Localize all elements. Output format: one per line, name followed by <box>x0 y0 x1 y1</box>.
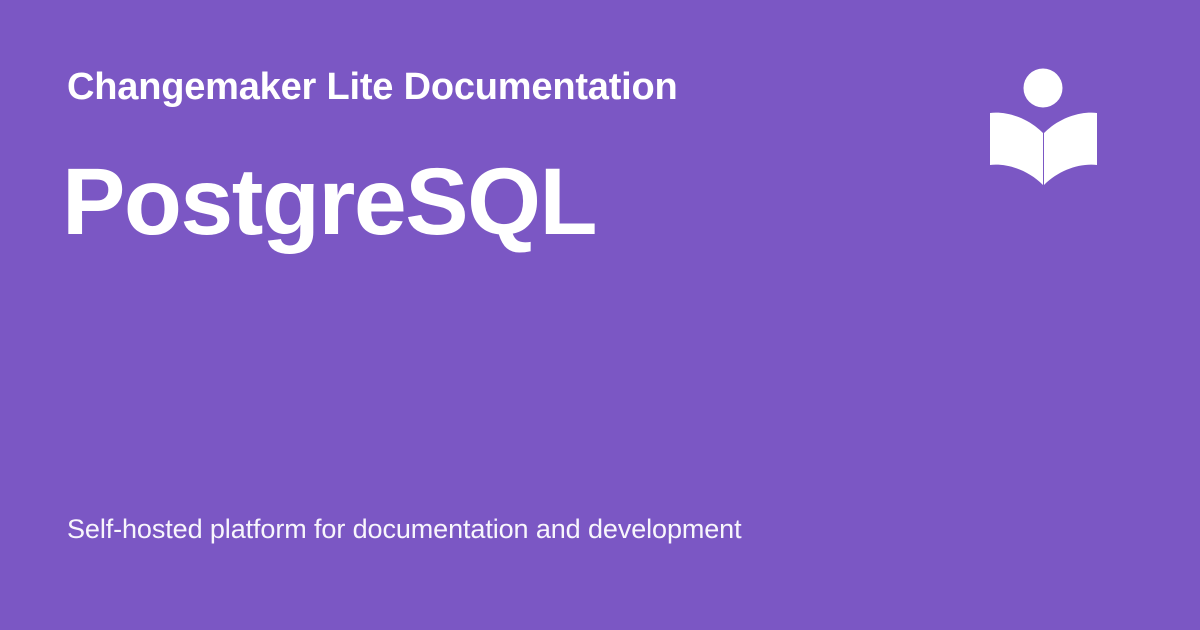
og-preview-card: Changemaker Lite Documentation PostgreSQ… <box>0 0 1200 630</box>
open-book-reader-icon <box>983 62 1105 192</box>
site-name-eyebrow: Changemaker Lite Documentation <box>67 68 678 106</box>
book-right-page-shape <box>1044 113 1097 185</box>
page-subtitle: Self-hosted platform for documentation a… <box>67 513 742 545</box>
card-text-column: Changemaker Lite Documentation PostgreSQ… <box>67 0 947 630</box>
page-title: PostgreSQL <box>62 155 596 250</box>
reader-head-shape <box>1024 69 1063 108</box>
book-left-page-shape <box>990 113 1043 185</box>
